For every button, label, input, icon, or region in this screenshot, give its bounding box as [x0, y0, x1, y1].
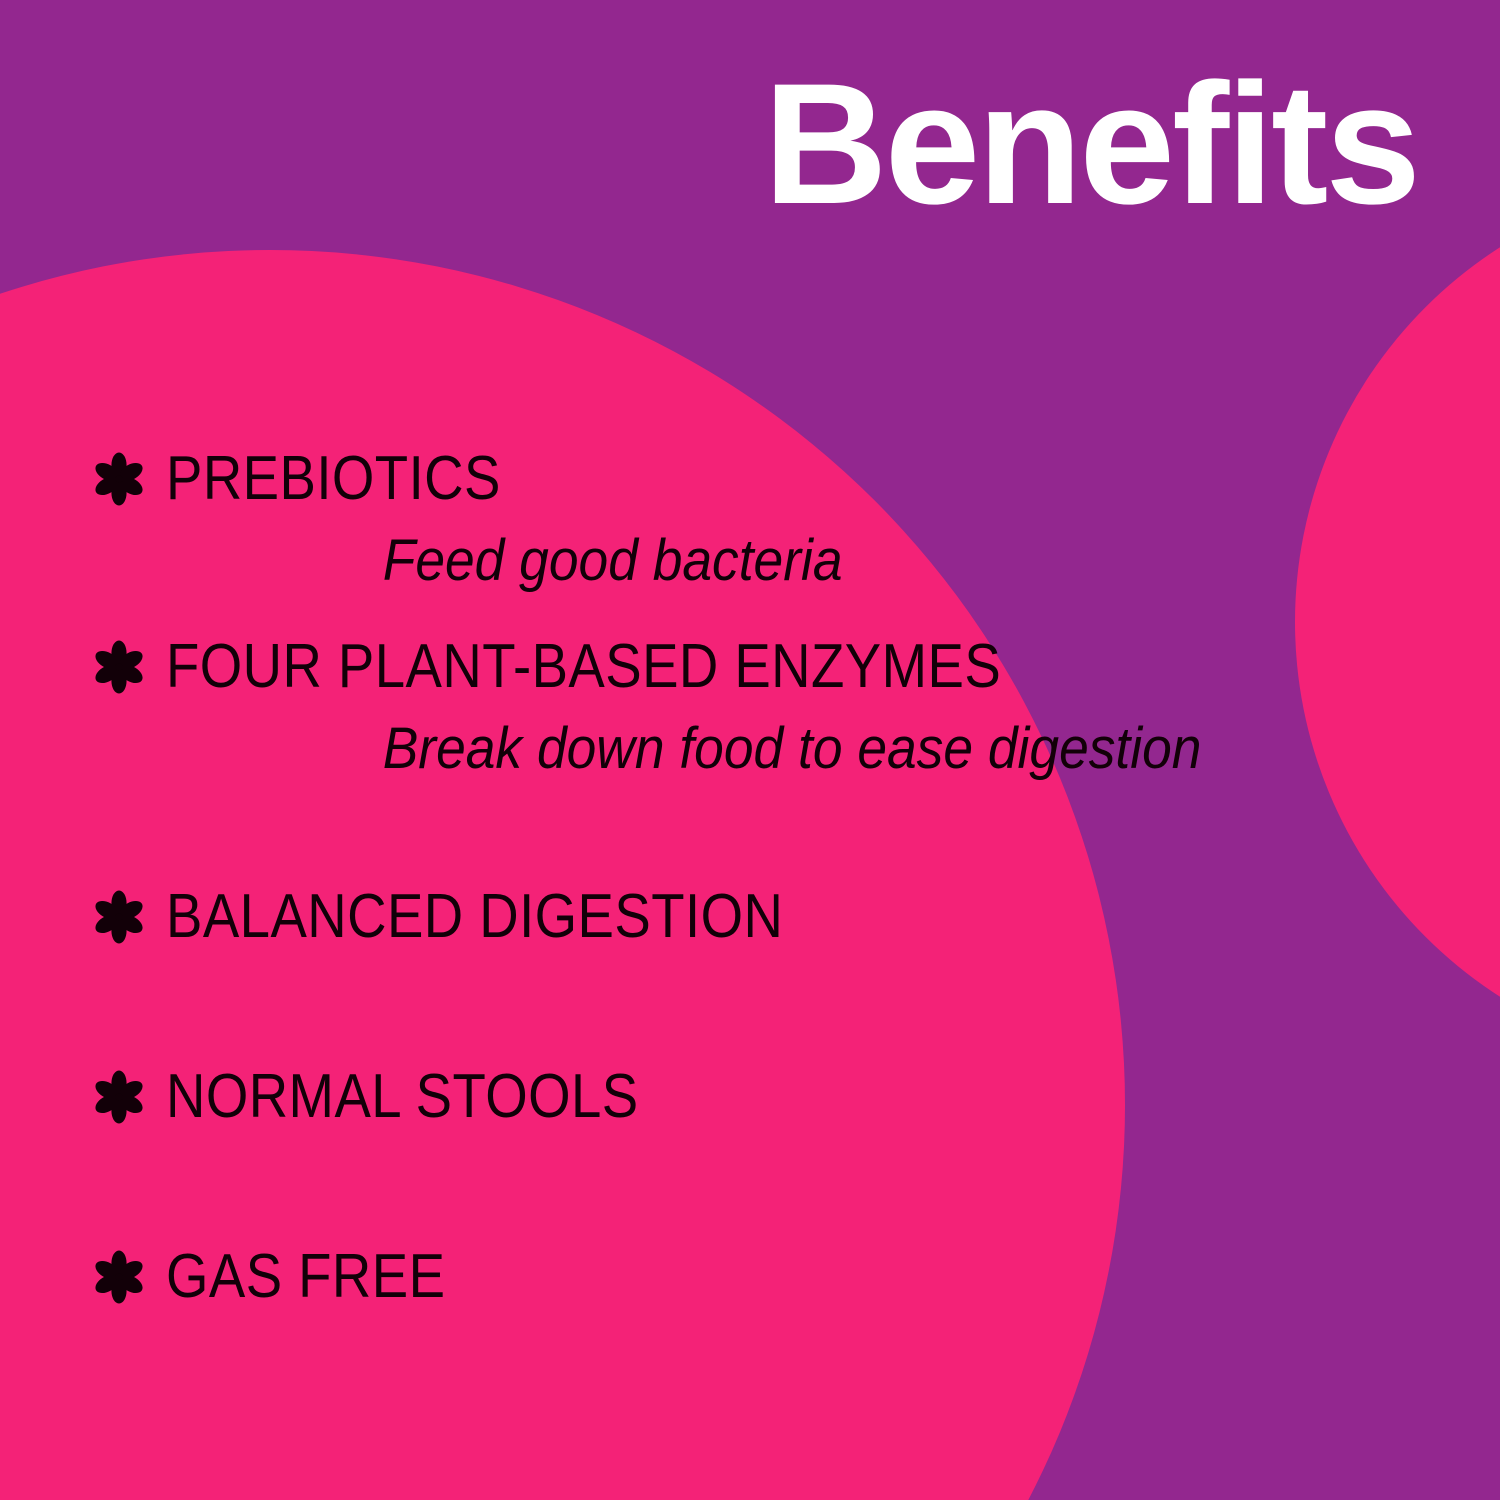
benefit-item-prebiotics: PREBIOTICS Feed good bacteria — [92, 440, 1422, 590]
benefit-heading-row: NORMAL STOOLS — [92, 1058, 1422, 1136]
benefit-heading-row: PREBIOTICS — [92, 440, 1422, 518]
benefit-label: GAS FREE — [166, 1246, 445, 1308]
benefit-item-balanced-digestion: BALANCED DIGESTION — [92, 878, 1422, 956]
benefits-list: PREBIOTICS Feed good bacteria — [92, 440, 1422, 1316]
benefit-label: PREBIOTICS — [166, 448, 501, 510]
benefit-heading-row: FOUR PLANT-BASED ENZYMES — [92, 628, 1422, 706]
benefit-item-normal-stools: NORMAL STOOLS — [92, 1058, 1422, 1136]
benefit-label: FOUR PLANT-BASED ENZYMES — [166, 636, 1001, 698]
benefits-graphic: Benefits — [0, 0, 1500, 1500]
benefit-label: NORMAL STOOLS — [166, 1066, 639, 1128]
benefit-label: BALANCED DIGESTION — [166, 886, 783, 948]
page-title: Benefits — [0, 58, 1418, 230]
flower-asterisk-icon — [92, 1070, 146, 1124]
benefit-subtitle: Feed good bacteria — [92, 532, 1316, 590]
flower-asterisk-icon — [92, 890, 146, 944]
benefit-item-enzymes: FOUR PLANT-BASED ENZYMES Break down food… — [92, 628, 1422, 778]
flower-asterisk-icon — [92, 452, 146, 506]
flower-asterisk-icon — [92, 640, 146, 694]
benefit-heading-row: GAS FREE — [92, 1238, 1422, 1316]
benefit-subtitle: Break down food to ease digestion — [92, 720, 1316, 778]
flower-asterisk-icon — [92, 1250, 146, 1304]
benefit-item-gas-free: GAS FREE — [92, 1238, 1422, 1316]
content-layer: Benefits — [0, 0, 1500, 1500]
benefit-heading-row: BALANCED DIGESTION — [92, 878, 1422, 956]
